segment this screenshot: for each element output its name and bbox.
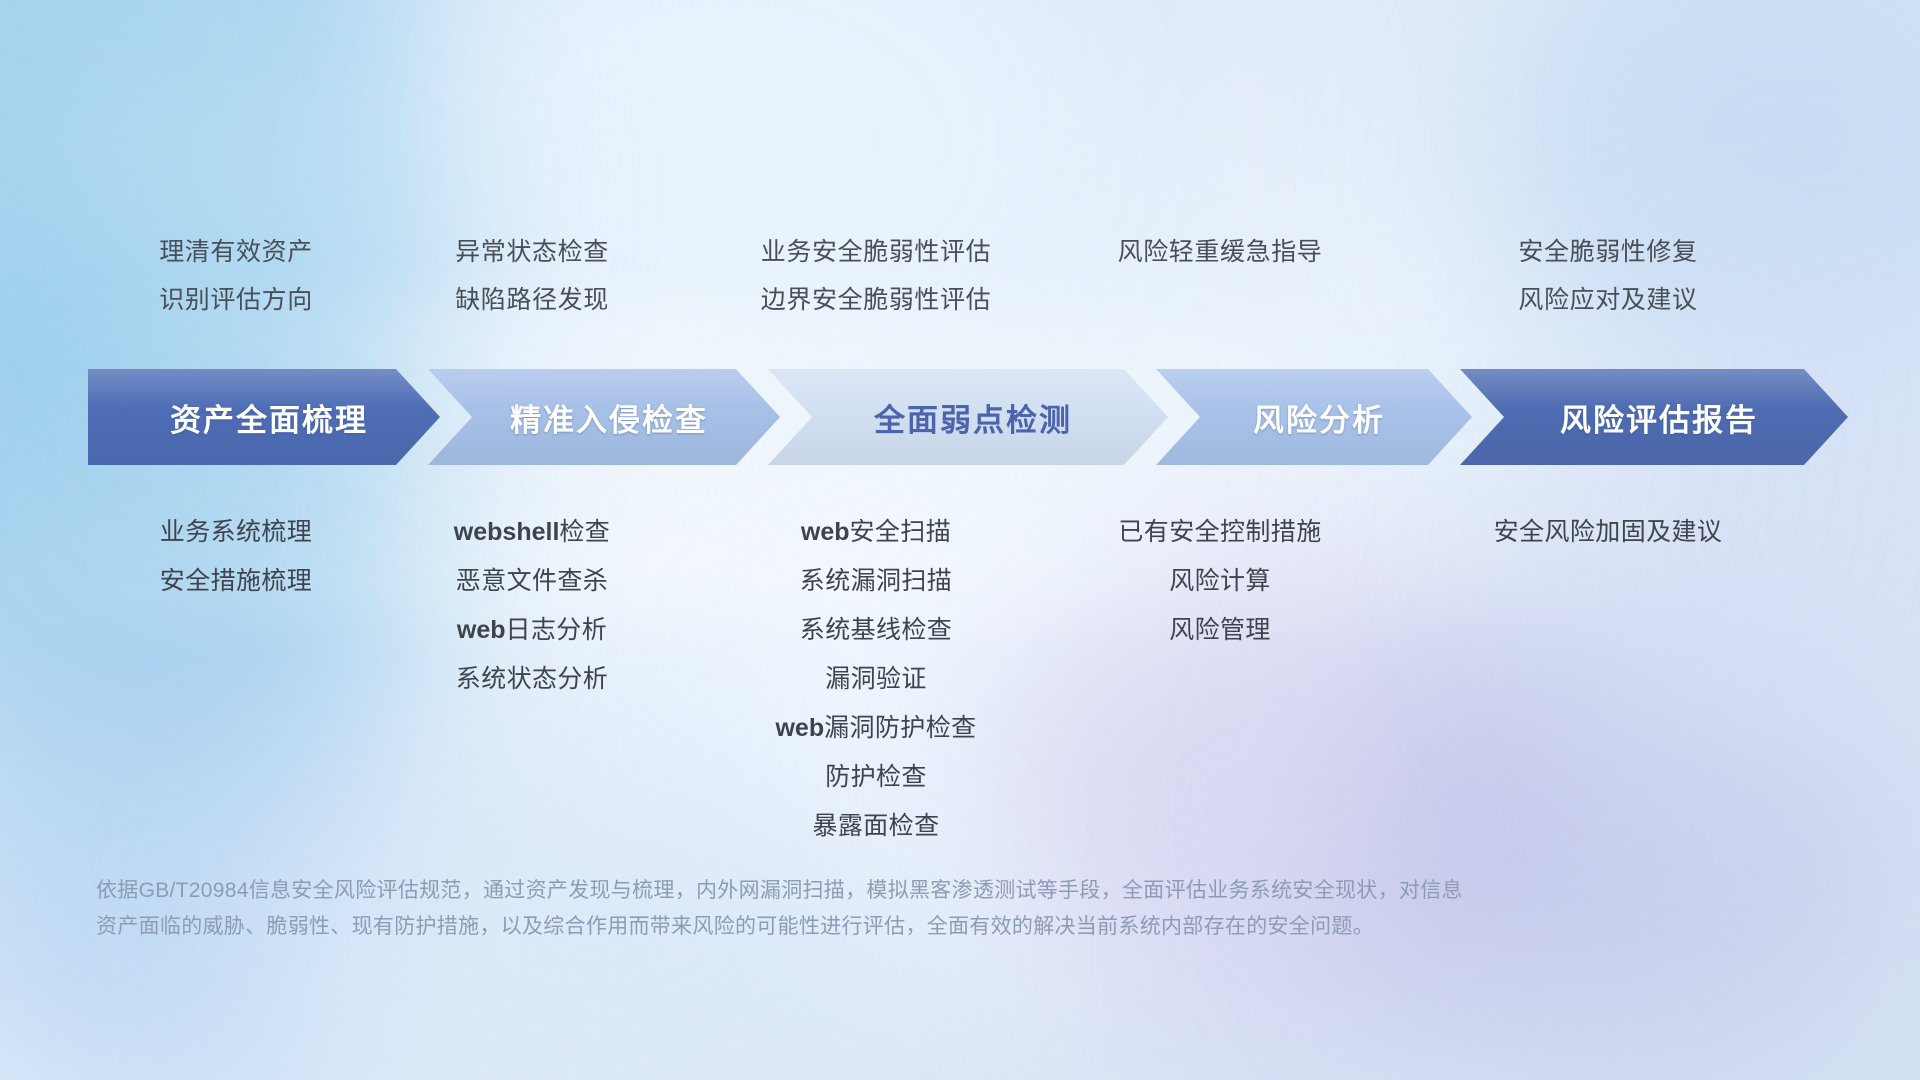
- diagram-content: 理清有效资产识别评估方向异常状态检查缺陷路径发现业务安全脆弱性评估边界安全脆弱性…: [0, 0, 1920, 1080]
- bottom-label-item: 风险计算: [1072, 557, 1368, 606]
- arrow-label: 风险分析: [1253, 395, 1385, 440]
- top-label-item: 风险轻重缓急指导: [1072, 228, 1368, 276]
- top-labels-risk-report: 安全脆弱性修复风险应对及建议: [1368, 228, 1848, 324]
- bottom-label-item: 系统基线检查: [680, 606, 1072, 655]
- bottom-label-item: 安全措施梳理: [88, 557, 384, 606]
- bottom-label-text: 检查: [559, 518, 610, 546]
- top-label-item: 边界安全脆弱性评估: [680, 276, 1072, 324]
- top-label-item: 理清有效资产: [88, 228, 384, 276]
- top-labels-weakness-detection: 业务安全脆弱性评估边界安全脆弱性评估: [680, 228, 1072, 324]
- bottom-label-item: 业务系统梳理: [88, 508, 384, 557]
- bottom-label-item: web日志分析: [384, 606, 680, 655]
- top-label-item: 风险应对及建议: [1368, 276, 1848, 324]
- bottom-label-text: 风险管理: [1169, 616, 1271, 644]
- bottom-label-text: 恶意文件查杀: [456, 567, 608, 595]
- bottom-label-text: 系统漏洞扫描: [800, 567, 952, 595]
- bottom-label-item: webshell检查: [384, 508, 680, 557]
- bottom-label-keyword: web: [457, 616, 506, 644]
- bottom-labels-intrusion-check: webshell检查恶意文件查杀web日志分析系统状态分析: [384, 508, 680, 704]
- bottom-label-text: 暴露面检查: [812, 812, 939, 840]
- bottom-label-item: 漏洞验证: [680, 655, 1072, 704]
- bottom-labels-weakness-detection: web安全扫描系统漏洞扫描系统基线检查漏洞验证web漏洞防护检查防护检查暴露面检…: [680, 508, 1072, 851]
- bottom-label-item: 恶意文件查杀: [384, 557, 680, 606]
- top-label-item: 业务安全脆弱性评估: [680, 228, 1072, 276]
- top-labels-risk-analysis: 风险轻重缓急指导: [1072, 228, 1368, 276]
- bottom-label-text: 漏洞验证: [825, 665, 927, 693]
- bottom-label-text: 安全措施梳理: [160, 567, 312, 595]
- bottom-label-item: web安全扫描: [680, 508, 1072, 557]
- bottom-label-item: 安全风险加固及建议: [1368, 508, 1848, 557]
- bottom-label-item: web漏洞防护检查: [680, 704, 1072, 753]
- bottom-labels-risk-report: 安全风险加固及建议: [1368, 508, 1848, 557]
- arrow-label: 资产全面梳理: [170, 395, 368, 440]
- bottom-label-keyword: webshell: [454, 518, 560, 546]
- process-arrow-weakness-detection[interactable]: 全面弱点检测: [768, 369, 1168, 465]
- footer-line-2: 资产面临的威胁、脆弱性、现有防护措施，以及综合作用而带来风险的可能性进行评估，全…: [96, 909, 1636, 945]
- top-label-item: 安全脆弱性修复: [1368, 228, 1848, 276]
- bottom-label-item: 系统状态分析: [384, 655, 680, 704]
- bottom-label-text: 漏洞防护检查: [824, 714, 976, 742]
- bottom-label-keyword: web: [775, 714, 824, 742]
- bottom-label-text: 防护检查: [825, 763, 927, 791]
- bottom-label-text: 安全扫描: [850, 518, 952, 546]
- process-arrow-intrusion-check[interactable]: 精准入侵检查: [428, 369, 780, 465]
- bottom-labels-risk-analysis: 已有安全控制措施风险计算风险管理: [1072, 508, 1368, 655]
- bottom-label-item: 已有安全控制措施: [1072, 508, 1368, 557]
- arrow-label: 精准入侵检查: [510, 395, 708, 440]
- bottom-label-item: 风险管理: [1072, 606, 1368, 655]
- footer-description: 依据GB/T20984信息安全风险评估规范，通过资产发现与梳理，内外网漏洞扫描，…: [96, 873, 1636, 945]
- top-label-item: 识别评估方向: [88, 276, 384, 324]
- bottom-label-text: 已有安全控制措施: [1118, 518, 1321, 546]
- bottom-labels-asset-inventory: 业务系统梳理安全措施梳理: [88, 508, 384, 606]
- bottom-label-item: 系统漏洞扫描: [680, 557, 1072, 606]
- bottom-label-text: 系统基线检查: [800, 616, 952, 644]
- bottom-label-text: 业务系统梳理: [160, 518, 312, 546]
- bottom-label-text: 安全风险加固及建议: [1494, 518, 1723, 546]
- bottom-label-text: 风险计算: [1169, 567, 1271, 595]
- footer-line-1: 依据GB/T20984信息安全风险评估规范，通过资产发现与梳理，内外网漏洞扫描，…: [96, 873, 1636, 909]
- top-labels-intrusion-check: 异常状态检查缺陷路径发现: [384, 228, 680, 324]
- arrow-label: 全面弱点检测: [874, 395, 1072, 440]
- bottom-label-item: 暴露面检查: [680, 802, 1072, 851]
- bottom-label-text: 系统状态分析: [456, 665, 608, 693]
- top-label-item: 异常状态检查: [384, 228, 680, 276]
- process-arrow-risk-analysis[interactable]: 风险分析: [1156, 369, 1472, 465]
- top-labels-asset-inventory: 理清有效资产识别评估方向: [88, 228, 384, 324]
- slide-canvas: 理清有效资产识别评估方向异常状态检查缺陷路径发现业务安全脆弱性评估边界安全脆弱性…: [0, 0, 1920, 1080]
- process-arrow-asset-inventory[interactable]: 资产全面梳理: [88, 369, 440, 465]
- process-arrow-risk-report[interactable]: 风险评估报告: [1460, 369, 1848, 465]
- top-label-item: 缺陷路径发现: [384, 276, 680, 324]
- arrow-label: 风险评估报告: [1560, 395, 1758, 440]
- process-arrow-band: 资产全面梳理精准入侵检查全面弱点检测风险分析风险评估报告: [88, 369, 1848, 465]
- bottom-label-text: 日志分析: [506, 616, 608, 644]
- bottom-label-keyword: web: [801, 518, 850, 546]
- bottom-label-item: 防护检查: [680, 753, 1072, 802]
